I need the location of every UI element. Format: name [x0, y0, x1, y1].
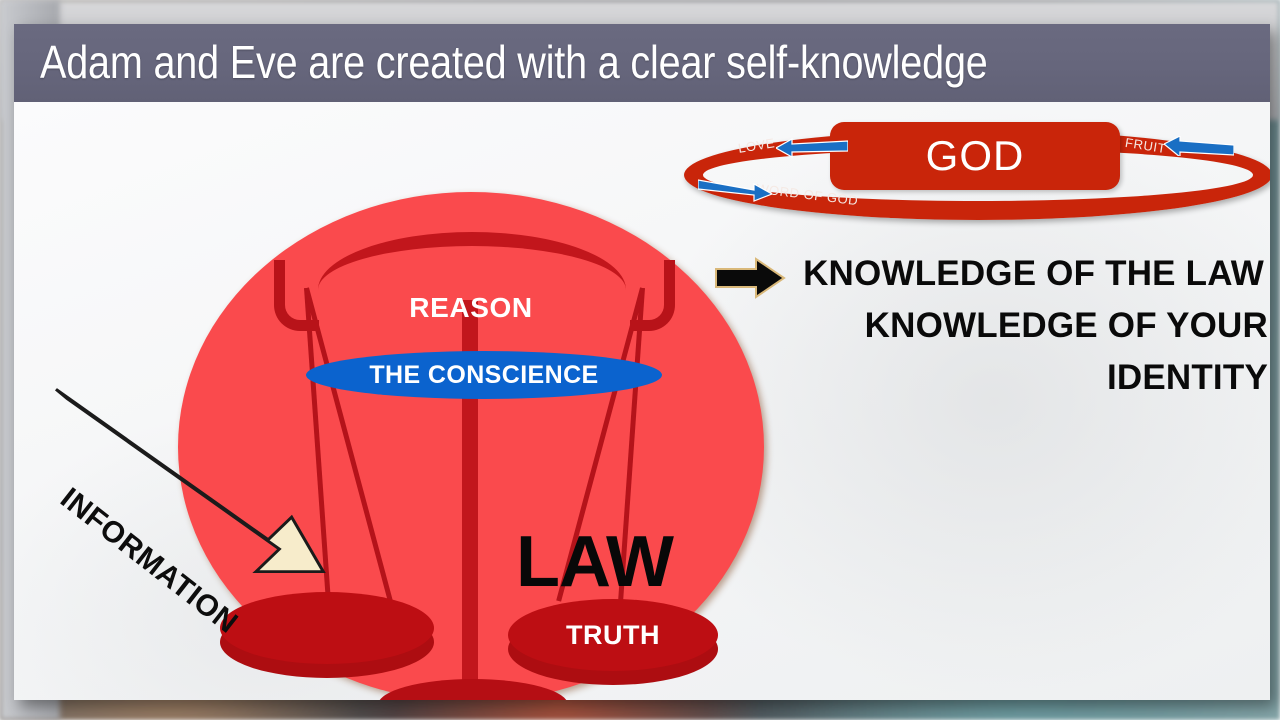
god-label: GOD [926, 132, 1025, 180]
conclusion-line-1: KNOWLEDGE OF THE LAW [708, 248, 1270, 300]
god-box: GOD [830, 122, 1120, 190]
slide-title-bar: Adam and Eve are created with a clear se… [14, 24, 1270, 102]
information-arrow: INFORMATION [50, 392, 350, 587]
slide-canvas: REASON THE CONSCIENCE LAW TRUTH AM CREAT… [14, 102, 1270, 700]
reason-label: REASON [178, 292, 764, 324]
truth-label: TRUTH [508, 599, 718, 671]
slide: Adam and Eve are created with a clear se… [14, 24, 1270, 700]
conclusion-line-2: KNOWLEDGE OF YOUR IDENTITY [708, 300, 1270, 404]
conclusion-text: KNOWLEDGE OF THE LAW KNOWLEDGE OF YOUR I… [708, 248, 1270, 403]
information-arrow-shape [50, 392, 350, 587]
page-title: Adam and Eve are created with a clear se… [40, 35, 1142, 89]
love-blue-arrow-icon [776, 138, 848, 158]
information-arrow-body [56, 389, 323, 571]
page-title-text: Adam and Eve are created with a clear se… [40, 35, 988, 89]
am-creature-label: AM CREATURE [178, 697, 764, 700]
god-diagram: GOD LOVE FRUIT WORD OF GOD [678, 122, 1270, 232]
word-of-god-blue-arrow-icon [698, 178, 772, 202]
law-label: LAW [516, 526, 673, 598]
conscience-label: THE CONSCIENCE [306, 351, 662, 399]
fruit-blue-arrow-icon [1164, 136, 1234, 156]
scale-pan-left [220, 592, 434, 664]
